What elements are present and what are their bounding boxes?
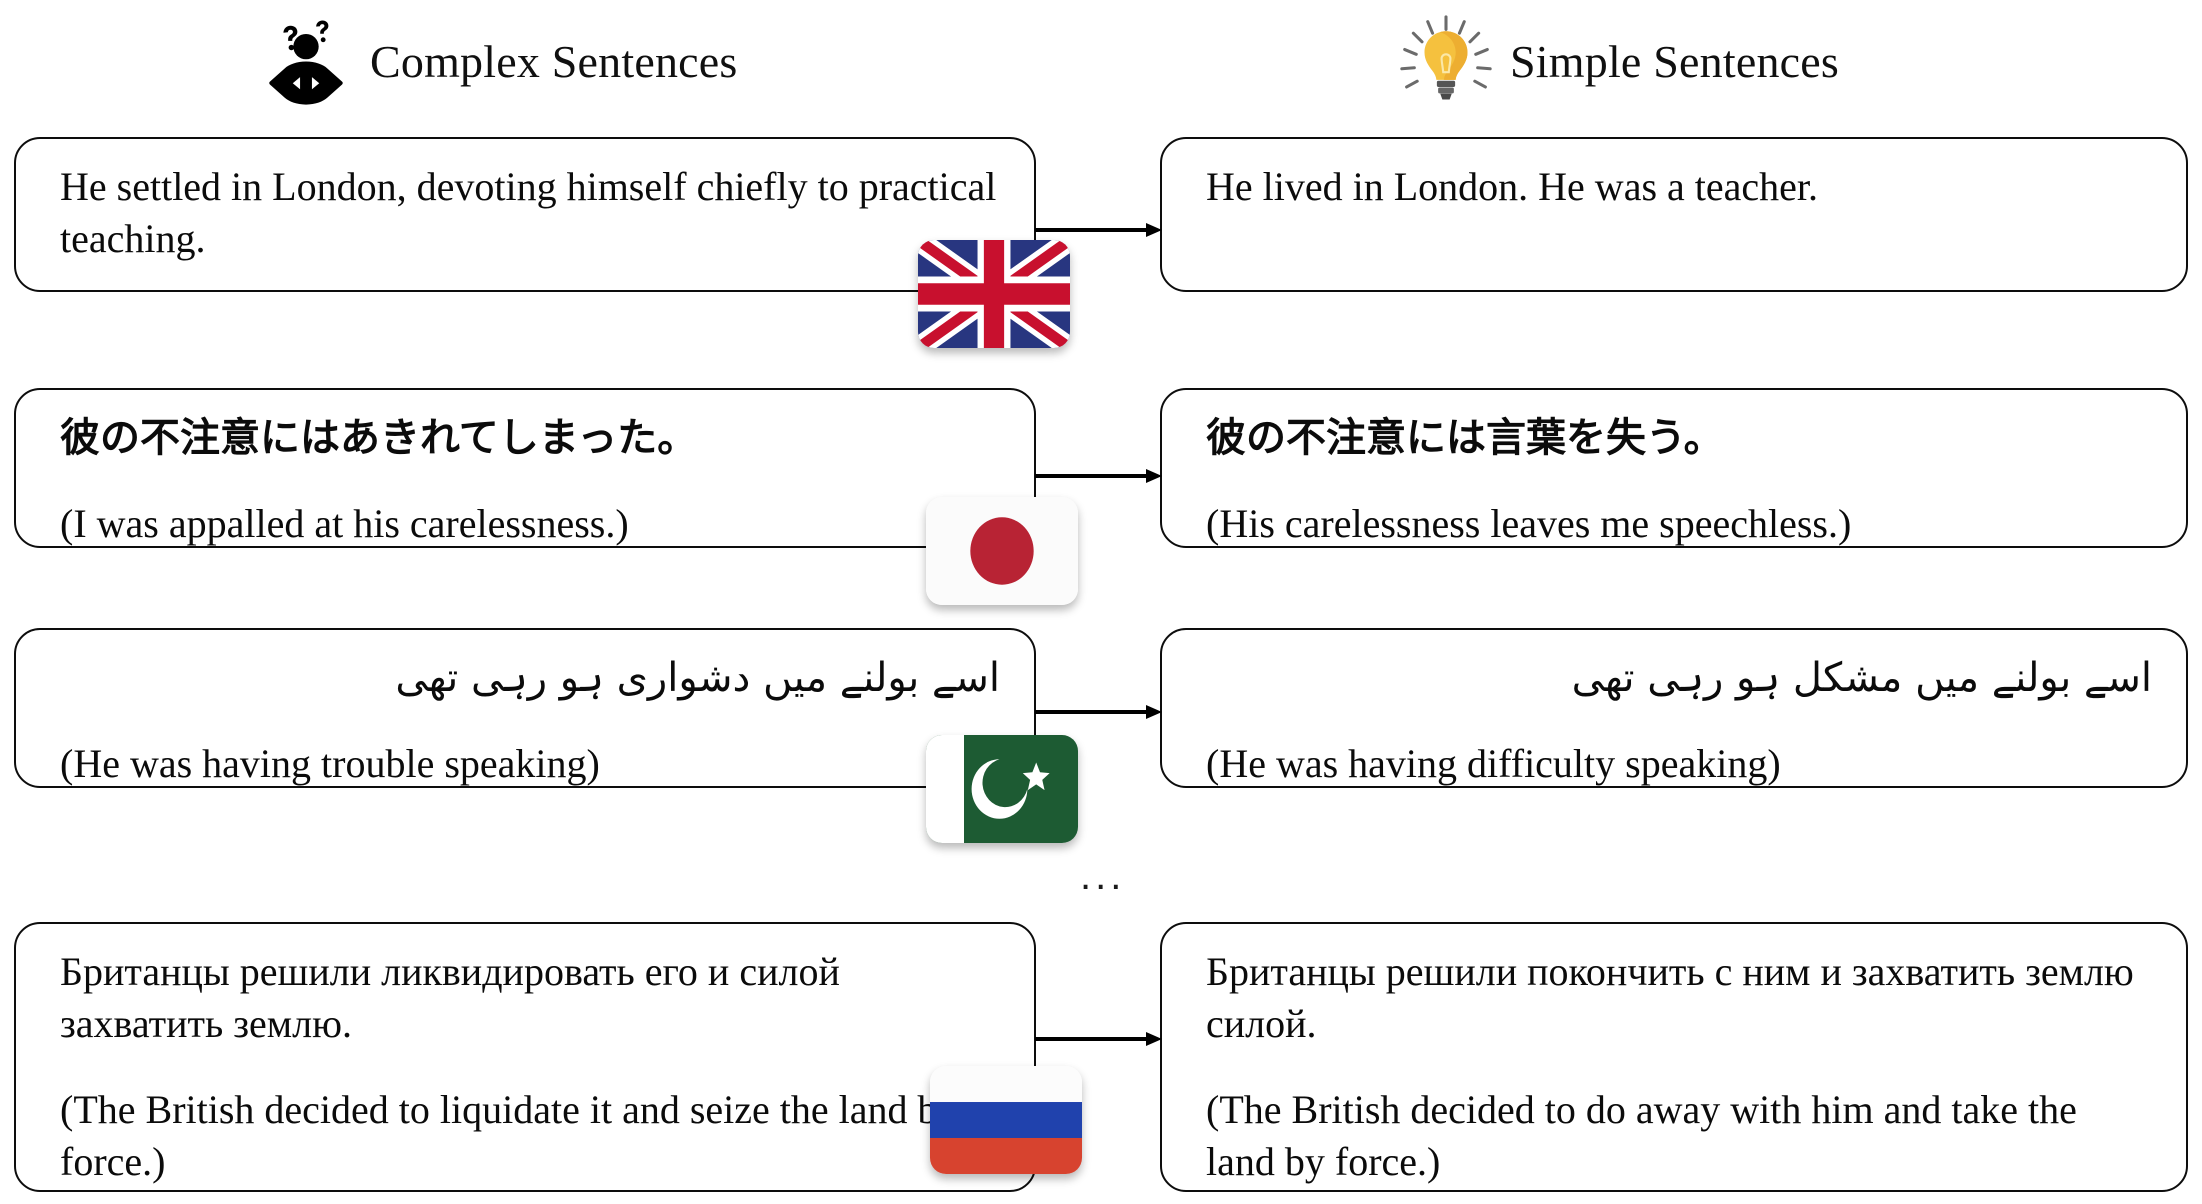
complex-sentence-box: 彼の不注意にはあきれてしまった。 (I was appalled at his … — [14, 388, 1036, 548]
sentence-primary: 彼の不注意にはあきれてしまった。 — [60, 412, 1000, 464]
column-header-simple-label: Simple Sentences — [1510, 39, 1839, 85]
column-header-complex-label: Complex Sentences — [370, 39, 738, 85]
sentence-gloss: (His carelessness leaves me speechless.) — [1206, 498, 2152, 550]
sentence-primary: اسے بولنے میں دشواری ہو رہی تھی — [60, 652, 1000, 704]
sentence-primary: He settled in London, devoting himself c… — [60, 161, 1000, 265]
sentence-gloss: (The British decided to liquidate it and… — [60, 1084, 1000, 1188]
simple-sentence-box: 彼の不注意には言葉を失う。 (His carelessness leaves m… — [1160, 388, 2188, 548]
sentence-primary: Британцы решили ликвидировать его и сило… — [60, 946, 1000, 1050]
simple-sentence-box: اسے بولنے میں مشکل ہو رہی تھی (He was ha… — [1160, 628, 2188, 788]
sentence-gloss: (I was appalled at his carelessness.) — [60, 498, 1000, 550]
sentence-primary: He lived in London. He was a teacher. — [1206, 161, 2152, 213]
transform-arrow-icon — [1034, 1027, 1164, 1051]
pakistan-flag-icon — [926, 735, 1078, 843]
simple-sentence-box: Британцы решили покончить с ним и захват… — [1160, 922, 2188, 1192]
transform-arrow-icon — [1034, 464, 1164, 488]
complex-sentence-box: Британцы решили ликвидировать его и сило… — [14, 922, 1036, 1192]
row-continuation-ellipsis: ... — [1080, 856, 1125, 896]
complex-sentence-box: اسے بولنے میں دشواری ہو رہی تھی (He was … — [14, 628, 1036, 788]
sentence-gloss: (He was having difficulty speaking) — [1206, 738, 2152, 790]
complex-sentence-box: He settled in London, devoting himself c… — [14, 137, 1036, 292]
japan-flag-icon — [926, 497, 1078, 605]
lightbulb-icon — [1398, 14, 1494, 110]
united-kingdom-flag-icon — [918, 240, 1070, 348]
transform-arrow-icon — [1034, 700, 1164, 724]
column-header-complex: Complex Sentences — [258, 14, 738, 110]
confused-person-icon — [258, 14, 354, 110]
sentence-gloss: (He was having trouble speaking) — [60, 738, 1000, 790]
simple-sentence-box: He lived in London. He was a teacher. — [1160, 137, 2188, 292]
sentence-gloss: (The British decided to do away with him… — [1206, 1084, 2152, 1188]
sentence-primary: 彼の不注意には言葉を失う。 — [1206, 412, 2152, 464]
russia-flag-icon — [930, 1066, 1082, 1174]
column-header-simple: Simple Sentences — [1398, 14, 1839, 110]
transform-arrow-icon — [1034, 218, 1164, 242]
sentence-primary: Британцы решили покончить с ним и захват… — [1206, 946, 2152, 1050]
sentence-primary: اسے بولنے میں مشکل ہو رہی تھی — [1206, 652, 2152, 704]
